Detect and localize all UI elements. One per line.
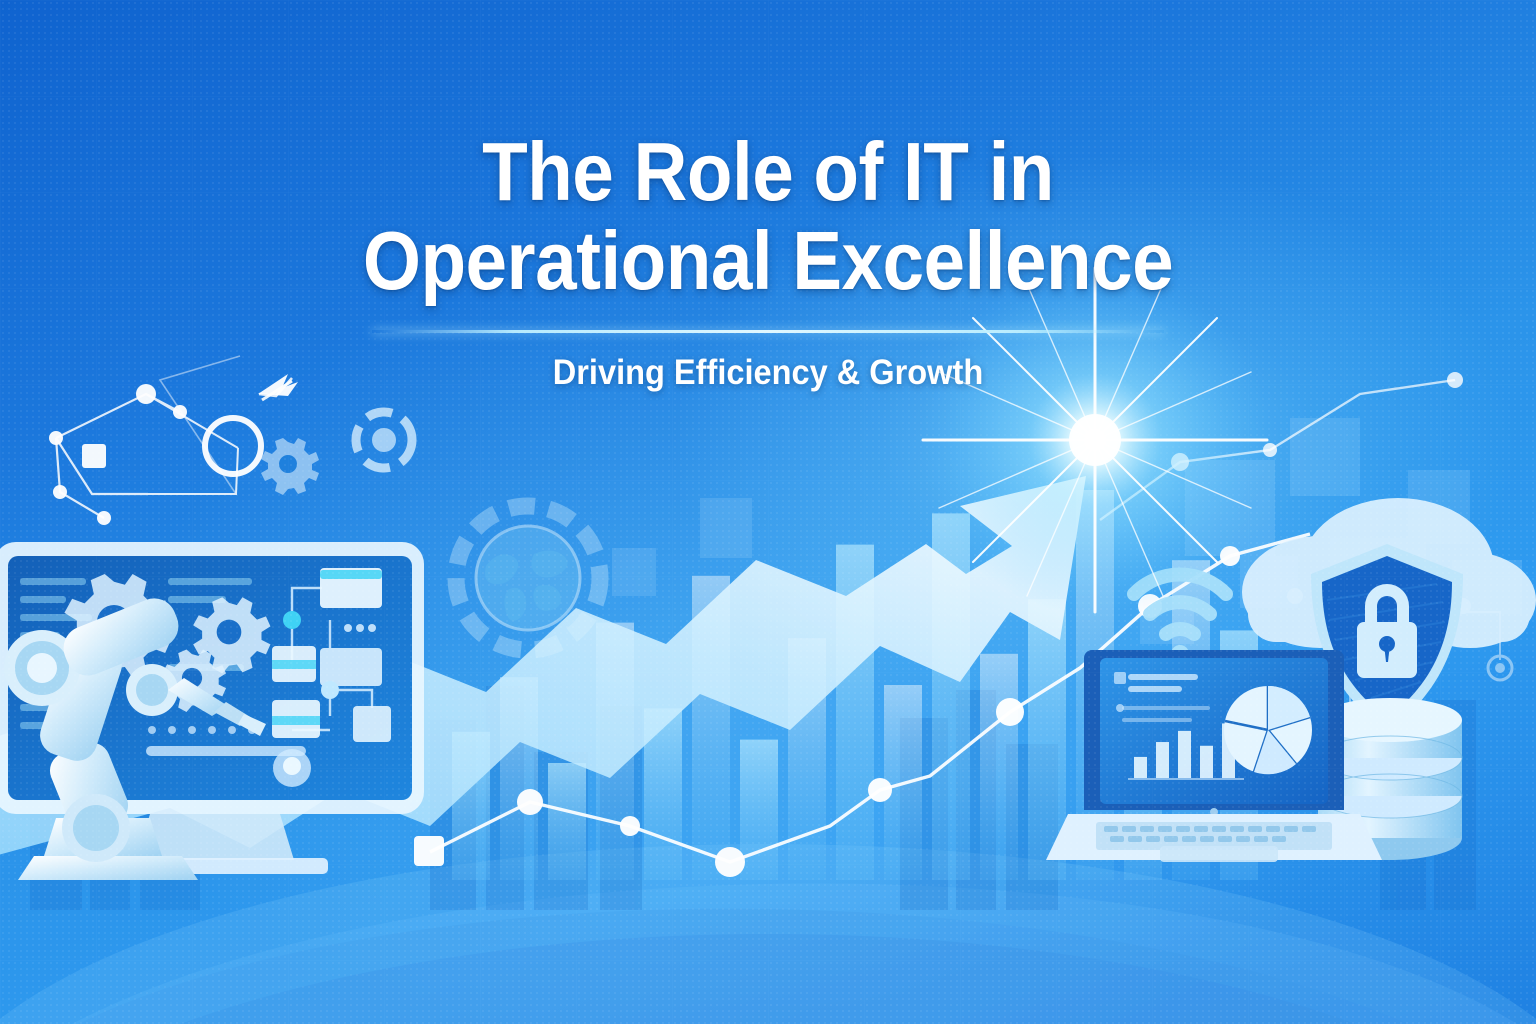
page-title: The Role of IT in Operational Excellence — [77, 0, 1459, 306]
title-line-1: The Role of IT in — [482, 125, 1054, 218]
banner-header: The Role of IT in Operational Excellence… — [0, 0, 1536, 393]
it-operational-excellence-banner: The Role of IT in Operational Excellence… — [0, 0, 1536, 1024]
title-divider — [372, 330, 1164, 333]
page-subtitle: Driving Efficiency & Growth — [54, 353, 1482, 393]
title-line-2: Operational Excellence — [363, 214, 1173, 307]
